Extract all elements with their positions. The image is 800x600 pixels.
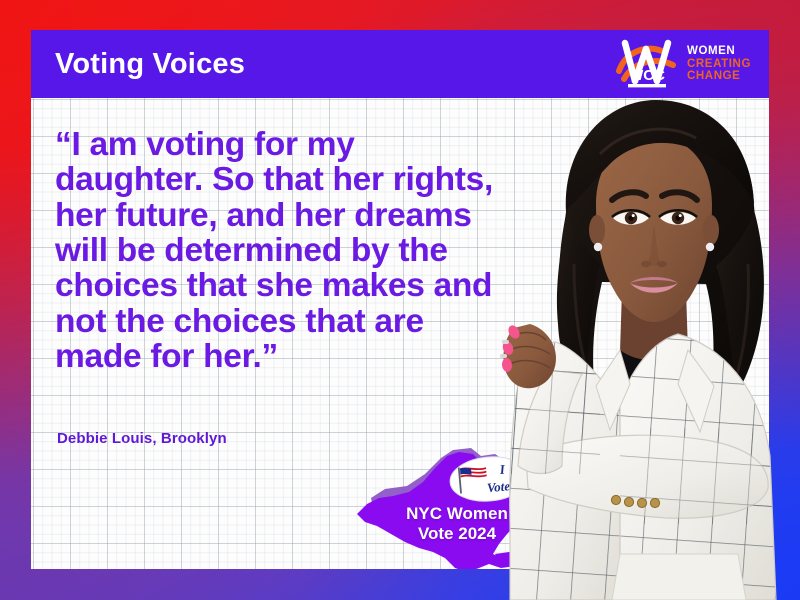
nyc-women-vote-badge: I Voted NYC Women Vote 2024 <box>349 442 564 569</box>
svg-text:Voted: Voted <box>486 478 517 496</box>
wcc-logo: WCC WOMEN CREATING CHANGE <box>616 34 751 94</box>
voting-voices-graphic: Voting Voices WCC <box>0 0 800 600</box>
quote-card: Voting Voices WCC <box>31 30 769 569</box>
quote-attribution: Debbie Louis, Brooklyn <box>57 430 227 447</box>
logo-line-creating: CREATING <box>687 58 751 71</box>
card-header: Voting Voices WCC <box>31 30 769 98</box>
logo-line-women: WOMEN <box>687 45 751 58</box>
quote-text: “I am voting for my daughter. So that he… <box>55 127 510 374</box>
wcc-wordmark: WOMEN CREATING CHANGE <box>687 45 751 84</box>
page-title: Voting Voices <box>55 50 245 79</box>
svg-text:WCC: WCC <box>629 67 665 84</box>
i-voted-sticker-icon: I Voted <box>447 452 531 507</box>
wcc-monogram-icon: WCC <box>616 35 678 93</box>
logo-line-change: CHANGE <box>687 70 751 83</box>
